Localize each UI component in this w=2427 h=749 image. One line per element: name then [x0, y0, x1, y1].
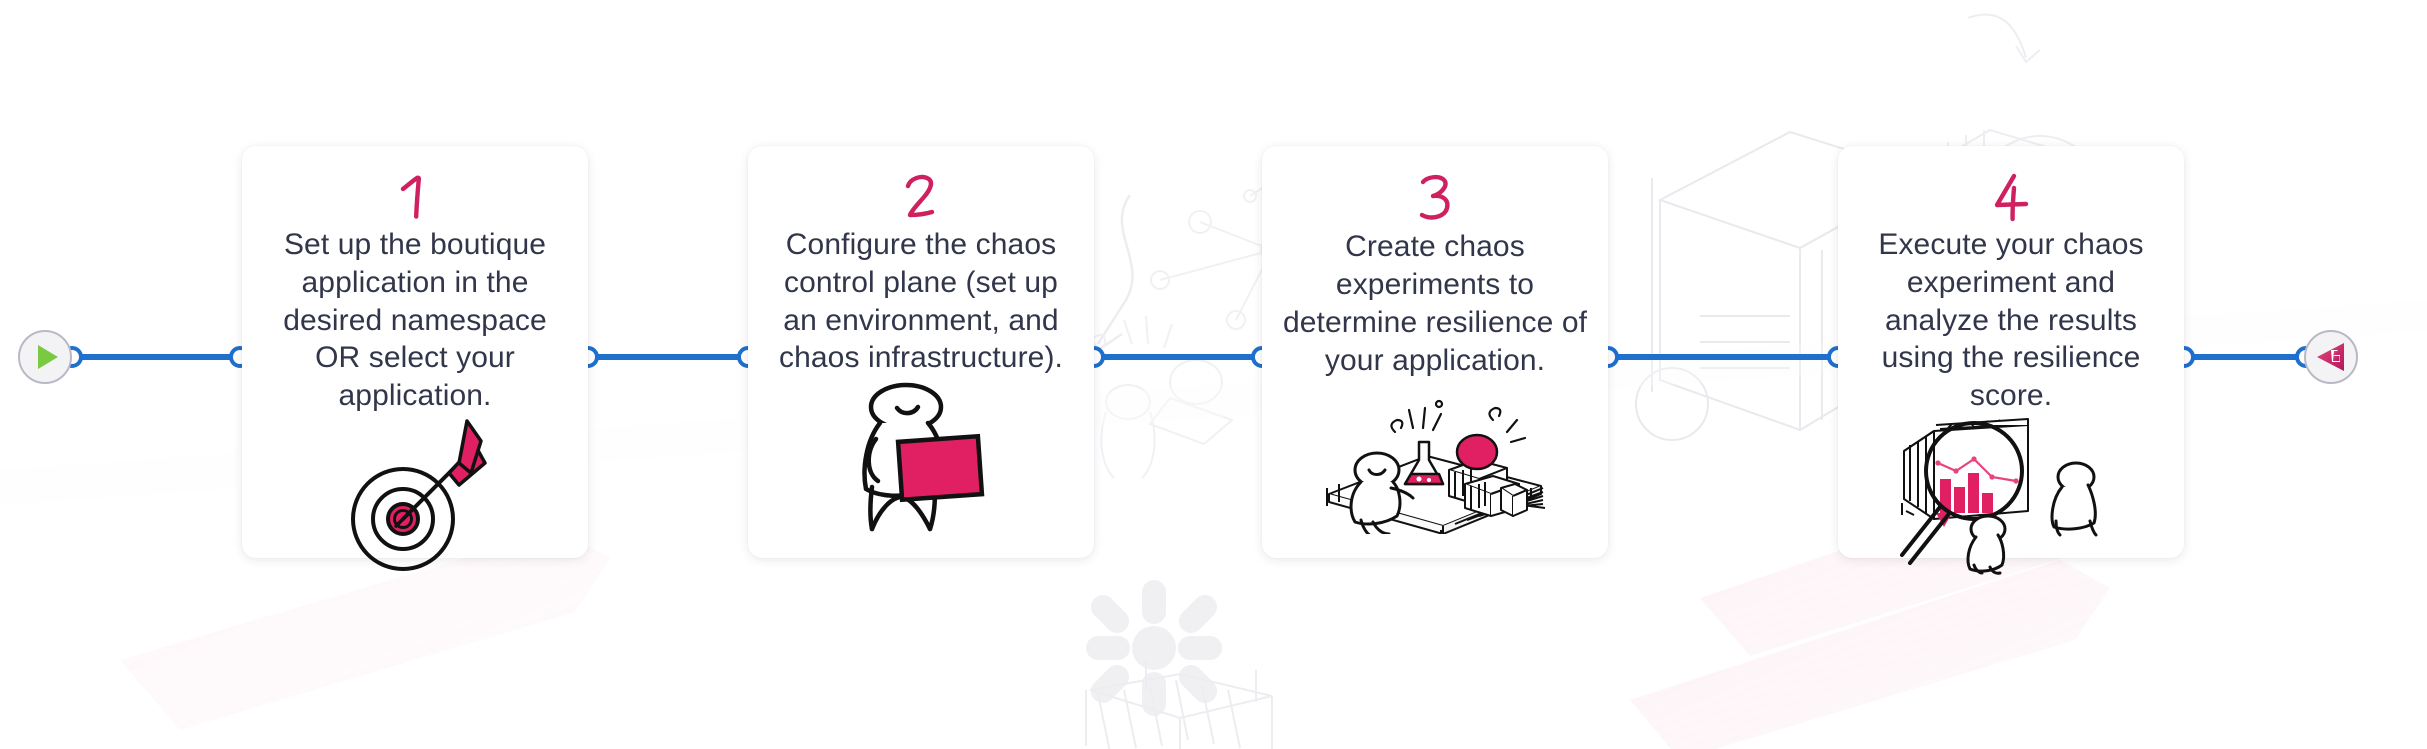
step-description-2: Configure the chaos control plane (set u… [766, 226, 1076, 377]
handwritten-four-icon [1989, 172, 2033, 224]
step-card-2[interactable]: Configure the chaos control plane (set u… [748, 146, 1094, 558]
chaos-workflow-diagram: Set up the boutique application in the d… [0, 0, 2427, 749]
step-card-3[interactable]: Create chaos experiments to determine re… [1262, 146, 1608, 558]
magnifier-chart-illustration [1896, 415, 2126, 575]
person-with-board-illustration [836, 377, 1006, 537]
step-description-3: Create chaos experiments to determine re… [1280, 228, 1590, 379]
step-card-4[interactable]: Execute your chaos experiment and analyz… [1838, 146, 2184, 558]
scientist-flask-platform-illustration [1315, 379, 1555, 534]
handwritten-three-icon [1413, 173, 1457, 225]
play-icon [38, 345, 58, 369]
step-description-4: Execute your chaos experiment and analyz… [1856, 226, 2166, 415]
step-number-2 [899, 172, 943, 224]
litmus-logo-icon [2314, 340, 2348, 374]
sketch-platform-watermark [1086, 660, 1272, 749]
end-litmus-badge[interactable] [2304, 330, 2358, 384]
target-with-arrow-illustration [325, 415, 505, 575]
step-number-3 [1413, 172, 1457, 226]
step-number-4 [1989, 172, 2033, 224]
handwritten-two-icon [899, 172, 943, 224]
step-description-1: Set up the boutique application in the d… [260, 226, 570, 415]
kubernetes-wheel-watermark [1086, 580, 1222, 716]
step-number-1 [393, 172, 437, 224]
step-card-1[interactable]: Set up the boutique application in the d… [242, 146, 588, 558]
start-play-button[interactable] [18, 330, 72, 384]
handwritten-one-icon [393, 172, 437, 224]
sketch-figure-watermark [1088, 316, 1232, 478]
